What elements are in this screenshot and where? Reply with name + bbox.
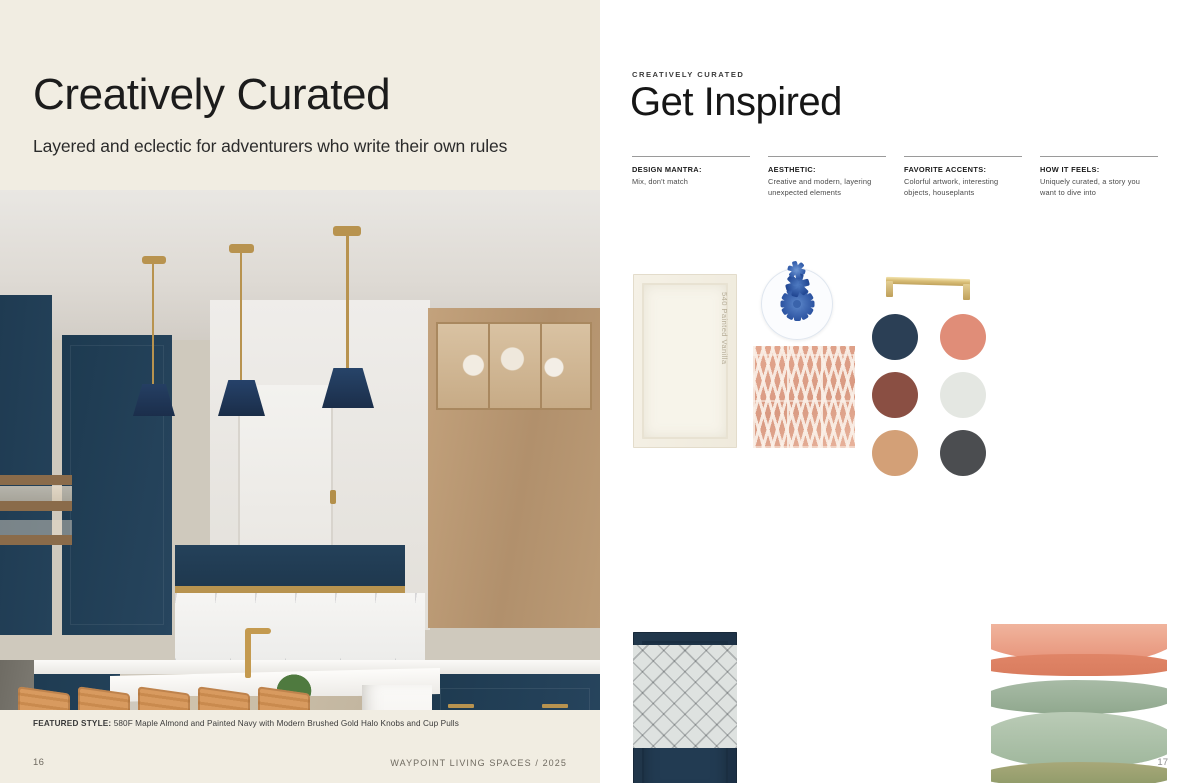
palette-swatch-rust-brown[interactable] xyxy=(872,372,918,418)
featured-style-caption: FEATURED STYLE: 580F Maple Almond and Pa… xyxy=(33,719,573,728)
left-page-header: Creatively Curated Layered and eclectic … xyxy=(33,72,573,157)
cup-pull-icon xyxy=(542,704,568,708)
woven-leather-seat xyxy=(258,686,310,710)
displayed-dishware xyxy=(450,340,580,382)
divider-rule xyxy=(768,156,886,157)
palm-frond-textile-swatch[interactable] xyxy=(753,346,855,448)
pull-bar xyxy=(886,277,970,286)
gold-bar-pull-hardware[interactable] xyxy=(878,272,978,304)
fact-label: DESIGN MANTRA: xyxy=(632,165,750,174)
pendant-canopy xyxy=(229,244,254,253)
featured-style-text: 580F Maple Almond and Painted Navy with … xyxy=(114,719,459,728)
waterfall-edge xyxy=(362,685,432,710)
herringbone-tile-sample[interactable] xyxy=(633,645,737,748)
shelf-lighting xyxy=(0,486,72,508)
left-page: Creatively Curated Layered and eclectic … xyxy=(0,0,600,783)
navy-range-hood xyxy=(175,545,405,591)
wc-green-valley xyxy=(991,712,1167,768)
pull-foot xyxy=(963,284,970,300)
pendant-rod xyxy=(346,232,349,370)
right-page-title: Get Inspired xyxy=(630,80,842,125)
color-palette xyxy=(872,314,986,476)
brand-footer: WAYPOINT LIVING SPACES / 2025 xyxy=(390,758,567,768)
eyebrow-label: CREATIVELY CURATED xyxy=(632,70,744,79)
barstool xyxy=(136,690,194,710)
wc-coral-ridge xyxy=(991,654,1167,676)
fact-label: HOW IT FEELS: xyxy=(1040,165,1158,174)
pendant-canopy xyxy=(333,226,361,236)
divider-rule xyxy=(1040,156,1158,157)
wc-green-hill xyxy=(991,680,1167,714)
navy-tall-cabinet xyxy=(62,335,172,635)
page-title: Creatively Curated xyxy=(33,72,573,118)
divider-rule xyxy=(904,156,1022,157)
woven-leather-seat xyxy=(18,686,70,710)
navy-base-cabinets-right xyxy=(430,674,600,710)
fact-text: Creative and modern, layering unexpected… xyxy=(768,176,886,198)
fact-text: Uniquely curated, a story you want to di… xyxy=(1040,176,1158,198)
fact-text: Colorful artwork, interesting objects, h… xyxy=(904,176,1022,198)
palette-swatch-coral[interactable] xyxy=(940,314,986,360)
fact-favorite-accents: FAVORITE ACCENTS: Colorful artwork, inte… xyxy=(904,156,1022,198)
hero-kitchen-photo xyxy=(0,190,600,710)
right-page: CREATIVELY CURATED Get Inspired DESIGN M… xyxy=(600,0,1200,783)
navy-tall-cabinet-left xyxy=(0,295,52,635)
woven-leather-seat xyxy=(78,686,130,710)
cup-pull-icon xyxy=(448,704,474,708)
barstool xyxy=(16,690,74,710)
page-subtitle: Layered and eclectic for adventurers who… xyxy=(33,136,573,157)
page-number-left: 16 xyxy=(33,757,44,768)
left-page-footer: 16 WAYPOINT LIVING SPACES / 2025 xyxy=(33,757,567,768)
door-knob-icon xyxy=(330,490,336,504)
palette-swatch-off-white[interactable] xyxy=(940,372,986,418)
glass-front-cabinets xyxy=(436,322,592,410)
featured-style-label: FEATURED STYLE: xyxy=(33,719,111,728)
door-panel-inset xyxy=(642,283,728,439)
page-number-right: 17 xyxy=(1157,757,1168,768)
palette-swatch-navy[interactable] xyxy=(872,314,918,360)
palette-swatch-tan[interactable] xyxy=(872,430,918,476)
gold-faucet xyxy=(245,630,251,678)
fact-how-it-feels: HOW IT FEELS: Uniquely curated, a story … xyxy=(1040,156,1158,198)
palette-swatch-charcoal[interactable] xyxy=(940,430,986,476)
blue-patterned-plate[interactable] xyxy=(761,268,833,340)
door-sample-label: 540 Painted Vanilla xyxy=(720,292,729,364)
pendant-rod xyxy=(240,250,242,382)
pull-foot xyxy=(886,281,893,297)
barstool xyxy=(76,690,134,710)
fact-aesthetic: AESTHETIC: Creative and modern, layering… xyxy=(768,156,886,198)
fact-design-mantra: DESIGN MANTRA: Mix, don't match xyxy=(632,156,750,198)
wc-olive-band xyxy=(991,762,1167,783)
fact-text: Mix, don't match xyxy=(632,176,750,187)
plate-center xyxy=(793,300,801,308)
gold-faucet-spout xyxy=(245,628,271,634)
pendant-rod xyxy=(152,262,154,386)
marble-backsplash xyxy=(175,593,425,663)
fact-label: FAVORITE ACCENTS: xyxy=(904,165,1022,174)
watercolor-landscape-art[interactable] xyxy=(991,624,1167,783)
fact-label: AESTHETIC: xyxy=(768,165,886,174)
door-sample-painted-vanilla[interactable]: 540 Painted Vanilla xyxy=(633,274,737,448)
divider-rule xyxy=(632,156,750,157)
woven-leather-seat xyxy=(198,686,250,710)
open-wood-shelves xyxy=(0,475,72,485)
gold-hood-trim xyxy=(175,586,405,593)
pendant-canopy xyxy=(142,256,166,264)
fact-columns: DESIGN MANTRA: Mix, don't match AESTHETI… xyxy=(632,156,1170,198)
barstool xyxy=(256,690,314,710)
woven-leather-seat xyxy=(138,686,190,710)
barstool xyxy=(196,690,254,710)
catalog-spread: Creatively Curated Layered and eclectic … xyxy=(0,0,1200,783)
